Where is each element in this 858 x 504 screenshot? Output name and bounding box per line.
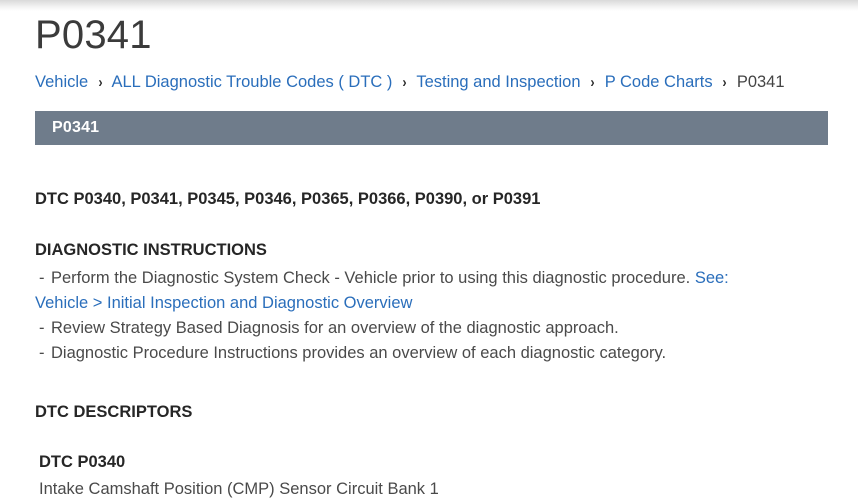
dtc-code-bar: P0341 [35, 111, 828, 145]
breadcrumb: Vehicle › ALL Diagnostic Trouble Codes (… [35, 71, 823, 94]
instruction-item-2: -Review Strategy Based Diagnosis for an … [35, 316, 823, 341]
diagnostic-instructions-title: DIAGNOSTIC INSTRUCTIONS [35, 239, 823, 261]
breadcrumb-item-p-code-charts[interactable]: P Code Charts [605, 73, 713, 91]
chevron-right-icon: › [398, 72, 411, 94]
bullet-dash-icon: - [35, 341, 51, 366]
instruction-item-3-text: Diagnostic Procedure Instructions provid… [51, 344, 666, 362]
dtc-descriptor-entry: DTC P0340 Intake Camshaft Position (CMP)… [35, 450, 823, 502]
chevron-right-icon: › [718, 72, 731, 94]
dtc-descriptors-title: DTC DESCRIPTORS [35, 401, 823, 423]
instruction-item-1-text: Perform the Diagnostic System Check - Ve… [51, 269, 690, 287]
document-page: P0341 Vehicle › ALL Diagnostic Trouble C… [0, 0, 858, 504]
diagnostic-instructions-section: DIAGNOSTIC INSTRUCTIONS -Perform the Dia… [35, 239, 823, 366]
breadcrumb-item-all-dtc[interactable]: ALL Diagnostic Trouble Codes ( DTC ) [112, 73, 393, 91]
bullet-dash-icon: - [35, 316, 51, 341]
instruction-item-3: -Diagnostic Procedure Instructions provi… [35, 341, 823, 366]
see-link[interactable]: See: [695, 269, 729, 287]
instruction-item-2-text: Review Strategy Based Diagnosis for an o… [51, 319, 619, 337]
document-content: P0341 Vehicle › ALL Diagnostic Trouble C… [0, 0, 858, 502]
chevron-right-icon: › [94, 72, 107, 94]
dtc-descriptor-code: DTC P0340 [39, 450, 823, 475]
breadcrumb-item-testing-and-inspection[interactable]: Testing and Inspection [416, 73, 580, 91]
see-link-target[interactable]: Vehicle > Initial Inspection and Diagnos… [35, 291, 823, 316]
bullet-dash-icon: - [35, 266, 51, 291]
breadcrumb-item-current: P0341 [737, 73, 785, 91]
instruction-item-1: -Perform the Diagnostic System Check - V… [35, 266, 823, 291]
chevron-right-icon: › [586, 72, 599, 94]
page-title: P0341 [35, 0, 823, 59]
breadcrumb-item-vehicle[interactable]: Vehicle [35, 73, 88, 91]
dtc-list-heading: DTC P0340, P0341, P0345, P0346, P0365, P… [35, 188, 823, 210]
dtc-code-bar-label: P0341 [52, 119, 99, 137]
dtc-descriptor-description: Intake Camshaft Position (CMP) Sensor Ci… [39, 477, 823, 502]
